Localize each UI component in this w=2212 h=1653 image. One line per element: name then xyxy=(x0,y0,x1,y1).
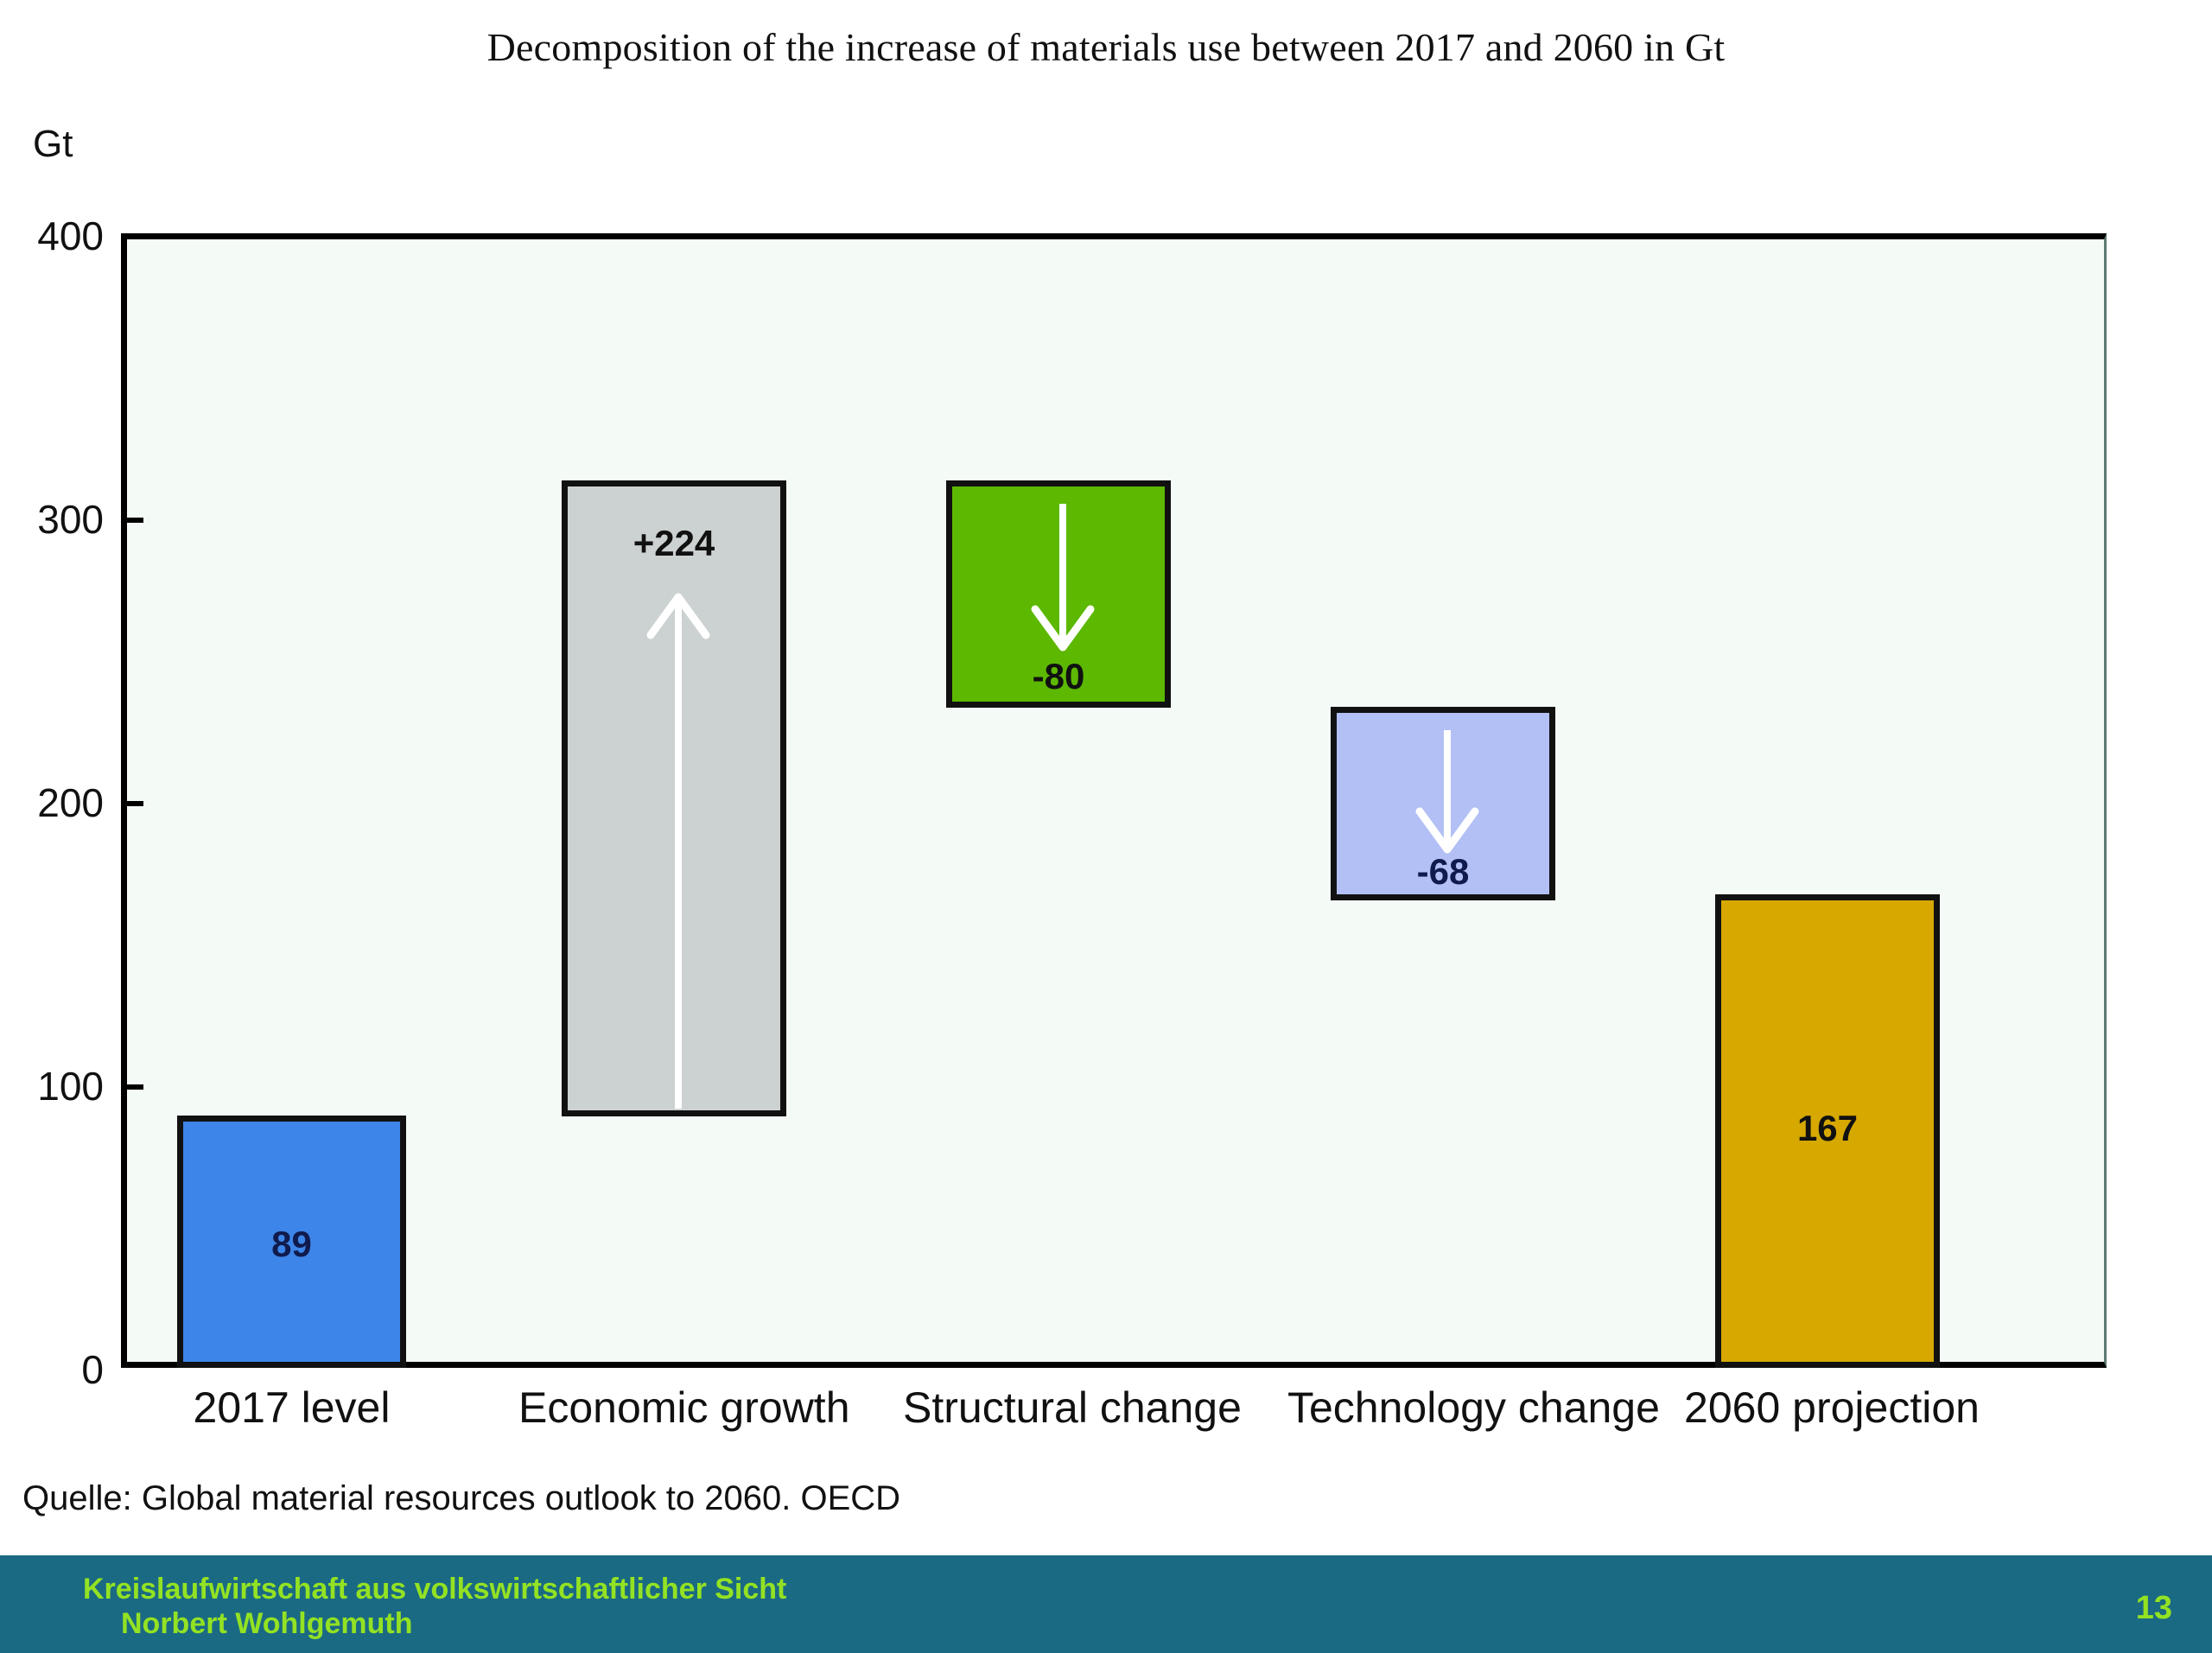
y-tick-label-100: 100 xyxy=(0,1063,104,1109)
x-label-economic-growth: Economic growth xyxy=(518,1383,829,1433)
bar-value-2060-projection: 167 xyxy=(1721,1108,1934,1149)
bar-technology-change[interactable]: -68 xyxy=(1331,707,1555,900)
bar-value-2017-level: 89 xyxy=(183,1224,400,1265)
x-label-2017-level: 2017 level xyxy=(143,1383,441,1433)
x-label-2060-projection: 2060 projection xyxy=(1676,1383,1987,1433)
footer-author-name: Norbert Wohlgemuth xyxy=(121,1607,412,1641)
source-citation: Quelle: Global material resources outloo… xyxy=(22,1479,900,1518)
x-label-technology-change: Technology change xyxy=(1287,1383,1599,1433)
page-number: 13 xyxy=(2136,1590,2172,1627)
bar-economic-growth[interactable]: +224 xyxy=(562,480,786,1116)
y-tick-label-200: 200 xyxy=(0,779,104,826)
bar-value-economic-growth: +224 xyxy=(568,523,780,564)
up-arrow-icon xyxy=(568,582,792,1117)
y-tick-mark-200 xyxy=(121,801,143,806)
bar-2060-projection[interactable]: 167 xyxy=(1715,894,1940,1368)
y-tick-label-400: 400 xyxy=(0,213,104,259)
bar-value-technology-change: -68 xyxy=(1337,851,1549,893)
y-tick-mark-100 xyxy=(121,1084,143,1090)
y-tick-label-0: 0 xyxy=(0,1346,104,1393)
bar-2017-level[interactable]: 89 xyxy=(177,1116,406,1368)
waterfall-chart: Gt 400 300 200 100 0 89 +224 -80 -68 xyxy=(0,104,2212,1469)
y-tick-mark-300 xyxy=(121,518,143,523)
bar-value-structural-change: -80 xyxy=(952,656,1165,697)
down-arrow-icon xyxy=(952,499,1177,663)
page-title: Decomposition of the increase of materia… xyxy=(0,24,2212,70)
down-arrow-icon xyxy=(1337,725,1561,863)
bar-structural-change[interactable]: -80 xyxy=(946,480,1171,708)
y-tick-label-300: 300 xyxy=(0,496,104,543)
footer-presentation-title: Kreislaufwirtschaft aus volkswirtschaftl… xyxy=(83,1571,786,1608)
y-axis-unit-label: Gt xyxy=(33,123,73,166)
footer-band: Kreislaufwirtschaft aus volkswirtschaftl… xyxy=(0,1555,2212,1653)
x-label-structural-change: Structural change xyxy=(903,1383,1214,1433)
